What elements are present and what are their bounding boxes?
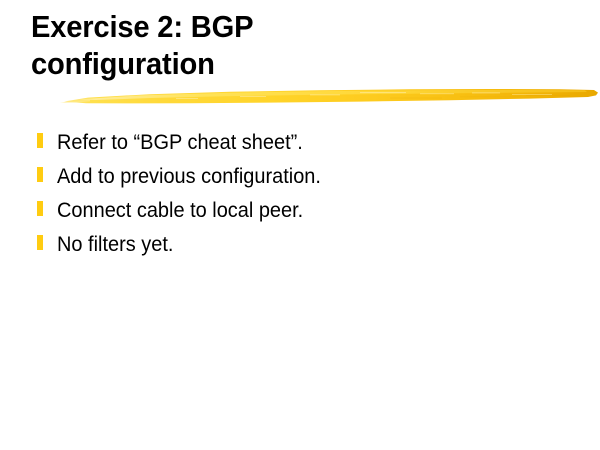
brushstroke-highlight: [78, 90, 587, 100]
list-item-label: No filters yet.: [57, 233, 173, 257]
list-item: Connect cable to local peer.: [36, 194, 576, 228]
gold-square-bullet-icon: [37, 235, 43, 250]
list-item-label: Refer to “BGP cheat sheet”.: [57, 131, 303, 155]
gold-square-bullet-icon: [37, 167, 43, 182]
presentation-slide: Exercise 2: BGP configuration: [0, 0, 600, 450]
list-item-label: Connect cable to local peer.: [57, 199, 303, 223]
slide-title-block: Exercise 2: BGP configuration: [31, 8, 451, 82]
list-item: No filters yet.: [36, 228, 576, 262]
brushstroke-tail: [60, 100, 90, 103]
brushstroke-icon: [60, 80, 600, 110]
page-title: Exercise 2: BGP configuration: [31, 8, 426, 82]
gold-square-bullet-icon: [37, 201, 43, 216]
bullet-list: Refer to “BGP cheat sheet”. Add to previ…: [36, 126, 576, 262]
brushstroke-divider: [60, 80, 600, 110]
list-item: Add to previous configuration.: [36, 160, 576, 194]
brushstroke-body: [64, 89, 598, 103]
gold-square-bullet-icon: [37, 133, 43, 148]
brushstroke-texture: [176, 92, 570, 99]
list-item-label: Add to previous configuration.: [57, 165, 321, 189]
list-item: Refer to “BGP cheat sheet”.: [36, 126, 576, 160]
